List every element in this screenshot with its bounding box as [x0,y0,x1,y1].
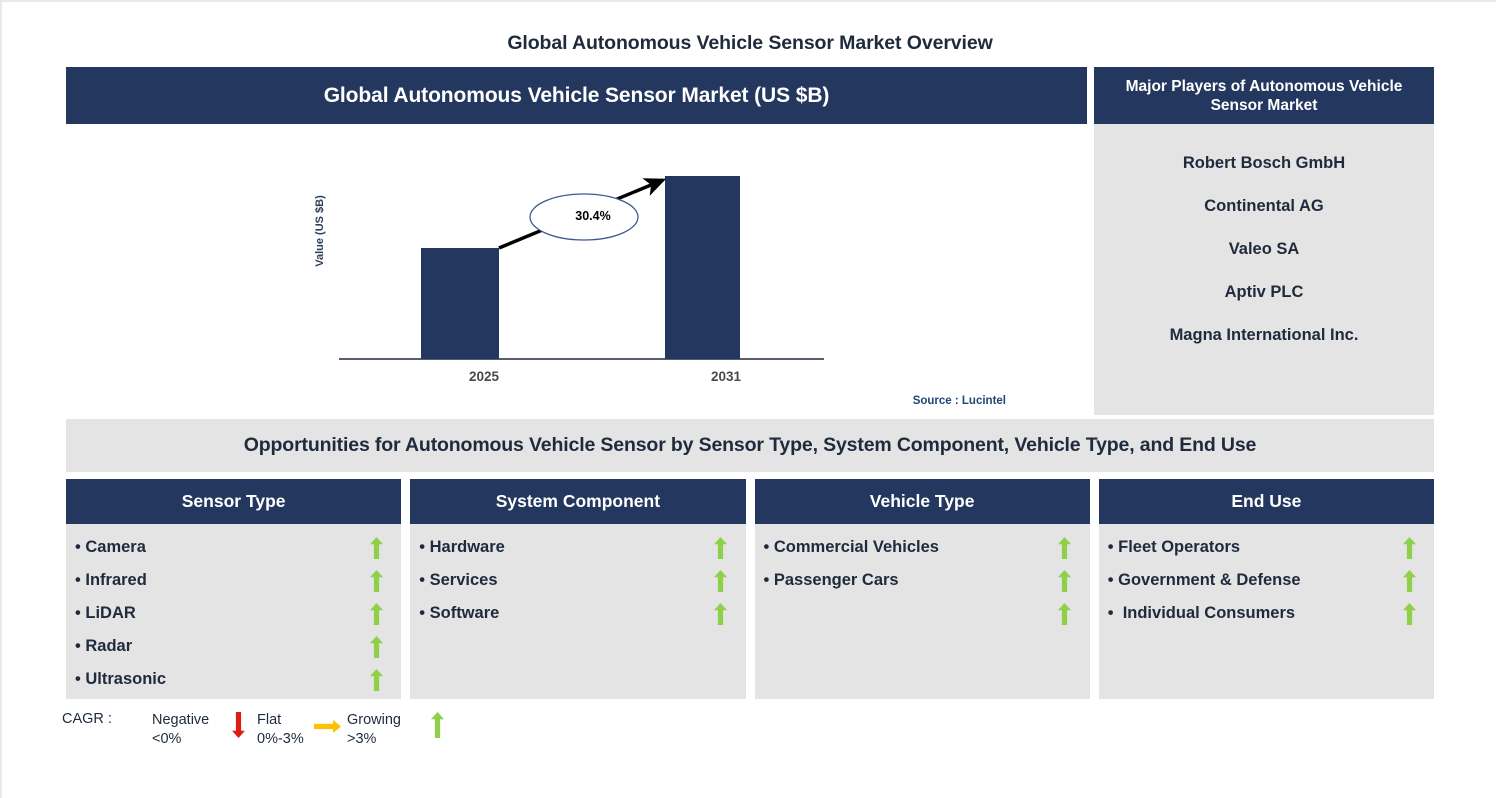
category-row: • Fleet Operators [1099,531,1434,564]
category-header: Vehicle Type [755,479,1090,524]
category-header: End Use [1099,479,1434,524]
category-body: • Hardware • Services • Software [410,524,745,699]
page-title: Global Autonomous Vehicle Sensor Market … [2,32,1496,55]
infographic-page: Global Autonomous Vehicle Sensor Market … [0,0,1496,798]
category-item-label: • Individual Consumers [1108,604,1400,623]
category-row: • Commercial Vehicles [755,531,1090,564]
category-row: • Camera [66,531,401,564]
category-row: • Hardware [410,531,745,564]
trend-up-arrow-icon [367,669,385,691]
trend-up-arrow-icon [367,570,385,592]
category-row: • Radar [66,630,401,663]
major-players-list: Robert Bosch GmbH Continental AG Valeo S… [1094,124,1434,357]
trend-up-arrow-icon [712,537,730,559]
opportunities-title: Opportunities for Autonomous Vehicle Sen… [244,434,1256,457]
category-item-label: • Ultrasonic [75,670,367,689]
cagr-legend-growing: Growing >3% [347,711,401,749]
category-body: • Fleet Operators • Government & Defense… [1099,524,1434,699]
category-item-label: • Passenger Cars [764,571,1056,590]
x-tick-label-2031: 2031 [666,369,786,384]
trend-up-arrow-icon [367,636,385,658]
trend-up-arrow-icon [1056,537,1074,559]
category-row: • Passenger Cars [755,564,1090,597]
cagr-legend-label: CAGR : [62,711,112,727]
cagr-flat-range: 0%-3% [257,730,304,749]
player-item: Magna International Inc. [1094,314,1434,357]
category-item-label: • Commercial Vehicles [764,538,1056,557]
category-column-system-component: System Component • Hardware • Services •… [410,479,745,699]
player-item: Aptiv PLC [1094,271,1434,314]
player-item: Continental AG [1094,185,1434,228]
category-column-end-use: End Use • Fleet Operators • Government &… [1099,479,1434,699]
trend-up-arrow-icon [367,537,385,559]
category-row [755,597,1090,630]
player-item: Valeo SA [1094,228,1434,271]
trend-up-arrow-icon [712,603,730,625]
category-item-label: • Camera [75,538,367,557]
category-column-sensor-type: Sensor Type • Camera • Infrared • LiDAR [66,479,401,699]
bar-2025 [421,248,499,359]
trend-flat-arrow-icon [314,720,341,738]
bar-2031 [665,176,740,359]
cagr-flat-title: Flat [257,711,304,730]
x-tick-label-2025: 2025 [424,369,544,384]
bar-chart-svg [66,124,1087,415]
trend-up-arrow-icon [367,603,385,625]
trend-up-arrow-icon [1056,570,1074,592]
trend-up-arrow-icon [431,712,444,743]
opportunities-banner: Opportunities for Autonomous Vehicle Sen… [66,419,1434,472]
category-header: Sensor Type [66,479,401,524]
cagr-negative-range: <0% [152,730,209,749]
category-row: • Software [410,597,745,630]
trend-up-arrow-icon [1056,603,1074,625]
category-row: • LiDAR [66,597,401,630]
category-item-label: • LiDAR [75,604,367,623]
category-item-label: • Government & Defense [1108,571,1400,590]
category-item-label: • Radar [75,637,367,656]
trend-up-arrow-icon [1400,537,1418,559]
cagr-legend: CAGR : Negative <0% Flat 0%-3% Growing >… [62,705,482,753]
source-note: Source : Lucintel [756,395,1006,407]
category-row: • Infrared [66,564,401,597]
cagr-legend-flat: Flat 0%-3% [257,711,304,749]
cagr-growing-range: >3% [347,730,401,749]
major-players-panel: Major Players of Autonomous Vehicle Sens… [1094,67,1434,415]
bar-chart: Value (US $B) 2025 2031 30.4% Source : L… [66,124,1087,415]
cagr-legend-negative: Negative <0% [152,711,209,749]
category-header: System Component [410,479,745,524]
major-players-header: Major Players of Autonomous Vehicle Sens… [1094,67,1434,124]
category-body: • Commercial Vehicles • Passenger Cars [755,524,1090,699]
trend-down-arrow-icon [232,712,245,743]
category-column-vehicle-type: Vehicle Type • Commercial Vehicles • Pas… [755,479,1090,699]
trend-up-arrow-icon [712,570,730,592]
cagr-growing-title: Growing [347,711,401,730]
cagr-negative-title: Negative [152,711,209,730]
trend-up-arrow-icon [1400,570,1418,592]
player-item: Robert Bosch GmbH [1094,142,1434,185]
category-row: • Government & Defense [1099,564,1434,597]
category-item-label: • Infrared [75,571,367,590]
category-row: • Individual Consumers [1099,597,1434,630]
trend-up-arrow-icon [1400,603,1418,625]
category-item-label: • Software [419,604,711,623]
y-axis-label: Value (US $B) [314,176,326,286]
cagr-value-label: 30.4% [538,209,648,223]
market-chart-panel-header: Global Autonomous Vehicle Sensor Market … [66,67,1087,124]
category-body: • Camera • Infrared • LiDAR [66,524,401,699]
category-item-label: • Hardware [419,538,711,557]
opportunity-columns: Sensor Type • Camera • Infrared • LiDAR [66,479,1434,699]
category-row: • Ultrasonic [66,663,401,696]
category-item-label: • Services [419,571,711,590]
category-item-label: • Fleet Operators [1108,538,1400,557]
market-chart-panel: Global Autonomous Vehicle Sensor Market … [66,67,1087,415]
category-row: • Services [410,564,745,597]
